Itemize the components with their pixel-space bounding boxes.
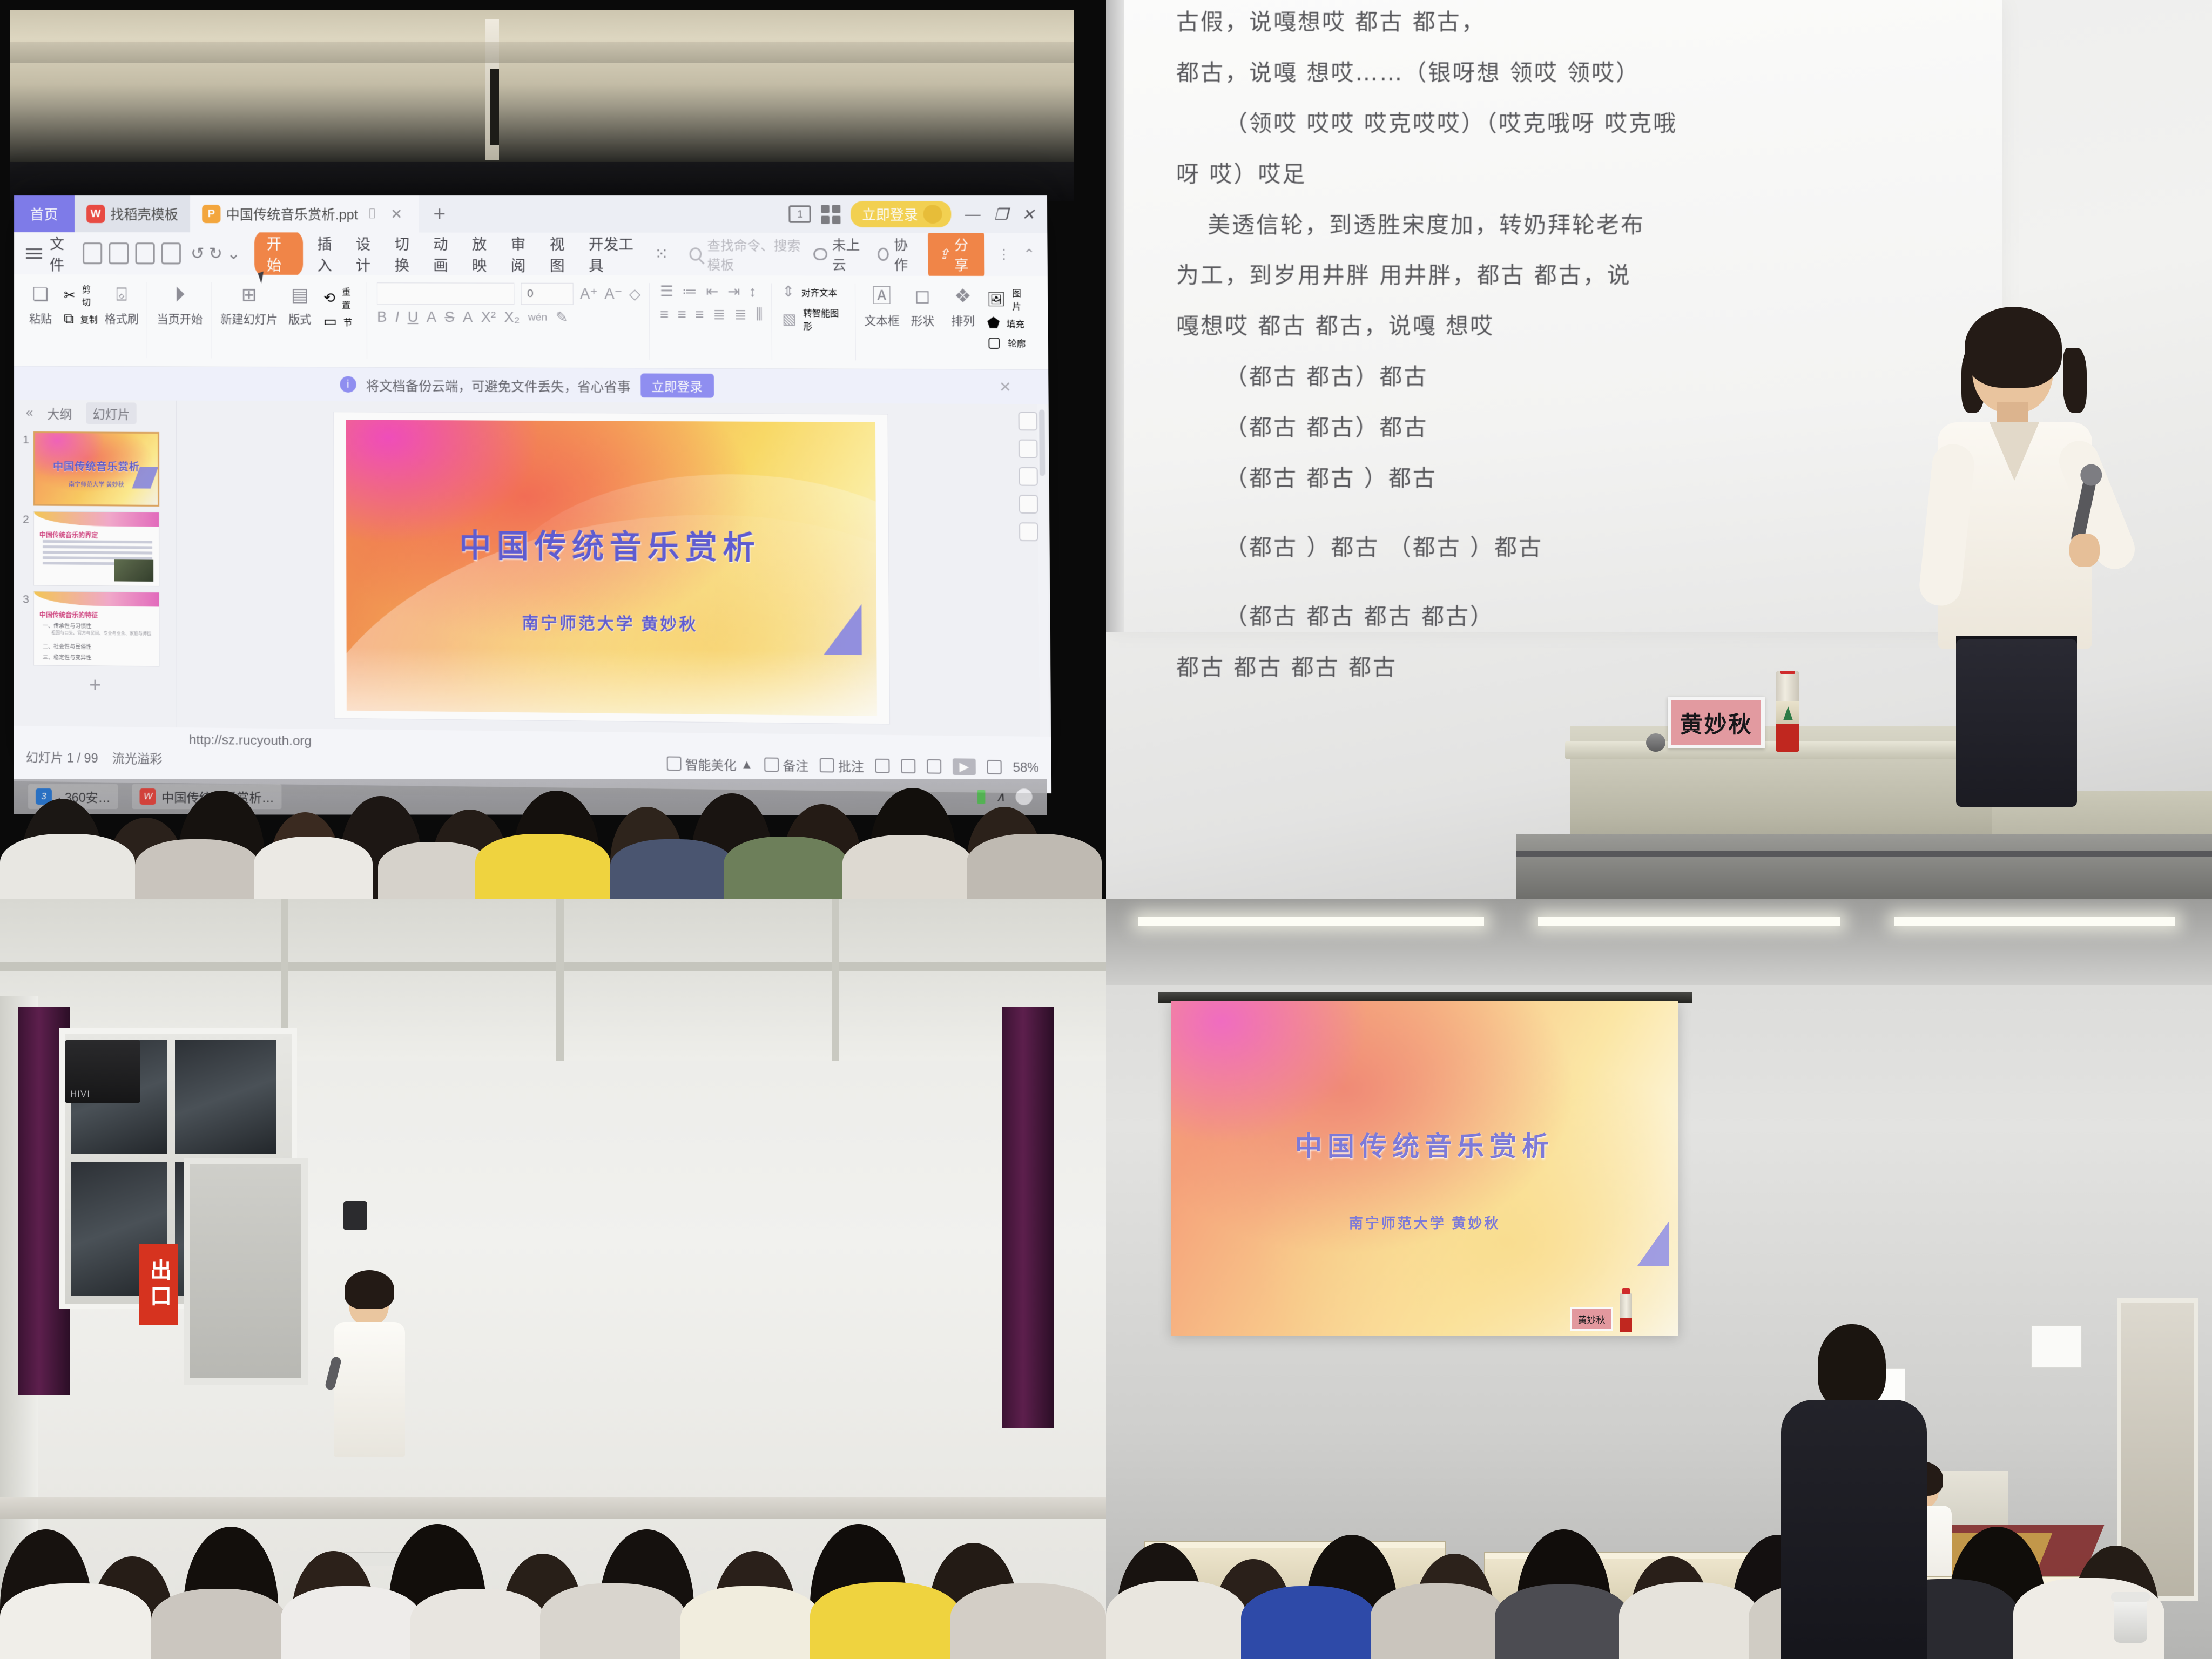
- projector-mount: [490, 69, 499, 145]
- picture-button[interactable]: 🖼 图片: [987, 286, 1028, 312]
- bold-button[interactable]: B: [377, 309, 387, 326]
- shapes-tool-icon[interactable]: [1019, 440, 1038, 458]
- tab-file-label: 中国传统音乐赏析.ppt: [226, 204, 358, 224]
- notice-login-button[interactable]: 立即登录: [640, 373, 714, 397]
- vertical-scrollbar[interactable]: [1037, 404, 1049, 737]
- tab-slideshow[interactable]: 放映: [472, 233, 497, 275]
- thumb1-title: 中国传统音乐赏析: [35, 458, 158, 474]
- select-tool-icon[interactable]: [1018, 412, 1037, 430]
- align-left-icon[interactable]: ≡: [660, 306, 669, 322]
- play-slideshow-button[interactable]: ▶: [953, 758, 976, 775]
- thumbnail-number: 3: [17, 591, 29, 606]
- add-person-icon: [878, 248, 889, 261]
- distribute-icon[interactable]: ≣: [734, 306, 747, 323]
- bottle-label-lower: [1776, 724, 1799, 752]
- notes-label: 备注: [783, 756, 808, 774]
- ceiling-light-1: [1138, 917, 1484, 926]
- beautify-label: 智能美化: [685, 754, 737, 774]
- login-button-titlebar[interactable]: 立即登录: [851, 201, 952, 227]
- reset-icon: ⟲: [323, 289, 335, 306]
- theme-name: 流光溢彩: [112, 748, 163, 767]
- share-button[interactable]: ⇪ 分享: [928, 231, 984, 278]
- thumbnail-image-3: 中国传统音乐的特征 一、传承性与习惯性 祖国与口头、官方与民间、专业与业余、家庭…: [33, 591, 159, 666]
- speaker-hand: [2069, 534, 2100, 567]
- section-label: 节: [343, 315, 352, 328]
- ribbon-tabs: 开始 插入 设计 切换 动画 放映 审阅 视图 开发工具 ⁙: [255, 230, 671, 278]
- cut-label: 剪切: [82, 282, 98, 308]
- tab-docer-template[interactable]: W 找稻壳模板: [75, 195, 190, 232]
- group-present: ⏵ 当页开始: [147, 282, 212, 359]
- speaker-person: [1926, 315, 2120, 801]
- slide-sorter-icon[interactable]: [901, 759, 915, 773]
- notes-button[interactable]: 备注: [764, 755, 808, 774]
- notice-close-icon[interactable]: ✕: [999, 378, 1011, 395]
- photo-collage: 首页 W 找稻壳模板 P 中国传统音乐赏析.ppt ⌷ ✕ + 1 立即登录: [0, 0, 2212, 1659]
- picture-label: 图片: [1012, 286, 1028, 312]
- ribbon-body: ❏ 粘贴 ✂ 剪切 ⧉ 复制 ⌺: [14, 274, 1048, 370]
- ribbon-options-icon[interactable]: ⋮: [997, 246, 1011, 263]
- shape-button[interactable]: ◻ 形状: [906, 284, 939, 329]
- thumb3-item-4: 三、稳定性与变异性: [43, 652, 91, 661]
- projected-water-bottle: [1620, 1293, 1632, 1332]
- tab-review[interactable]: 审阅: [511, 233, 536, 275]
- thumbnail-item-2[interactable]: 2 中国传统音乐的界定: [17, 511, 173, 586]
- to-smartart-label: 转智能图形: [803, 306, 846, 332]
- taskbar-item-wps[interactable]: W 中国传统音乐赏析…: [132, 784, 282, 809]
- grow-font-icon[interactable]: A⁺: [580, 285, 598, 302]
- undo-icon[interactable]: ↺: [188, 244, 206, 263]
- numbering-icon[interactable]: ≔: [682, 283, 697, 300]
- lyric-line-3: （领哎 哎哎 哎克哎哎）（哎克哦呀 哎克哦: [1176, 102, 2163, 146]
- lyric-line-2: 都古，说嘎 想哎……（银呀想 领哎 领哎）: [1176, 51, 2163, 95]
- search-placeholder: 查找命令、搜索模板: [707, 235, 813, 273]
- tab-docer-label: 找稻壳模板: [110, 204, 178, 224]
- layout-icon: ▤: [291, 282, 309, 307]
- copy-icon: ⧉: [64, 310, 74, 327]
- align-right-icon[interactable]: ≡: [695, 306, 704, 323]
- align-text-label: 对齐文本: [801, 285, 837, 299]
- fill-label: 填充: [1007, 316, 1024, 330]
- to-smartart-button[interactable]: ▧ 转智能图形: [782, 306, 846, 332]
- save-as-icon[interactable]: [109, 242, 129, 264]
- arrange-button[interactable]: ❖ 排列: [946, 284, 979, 329]
- share-icon: ⇪: [938, 246, 950, 263]
- wps-ppt-icon: P: [202, 205, 220, 223]
- thumbnail-number: 2: [17, 511, 29, 526]
- notes-icon: [764, 757, 779, 772]
- fill-icon: ⬟: [987, 314, 1000, 332]
- italic-button[interactable]: I: [395, 309, 400, 326]
- clear-format-icon[interactable]: ◇: [629, 286, 640, 302]
- bullets-icon[interactable]: ☰: [660, 283, 673, 300]
- wall-camera: [343, 1201, 367, 1230]
- subscript-button[interactable]: X₂: [504, 309, 520, 326]
- lyric-line-4: 呀 哎）哎足: [1176, 152, 2163, 197]
- taskbar-wps-label: 中国传统音乐赏析…: [161, 787, 274, 806]
- chevron-up-icon[interactable]: ∧: [996, 789, 1006, 805]
- current-slide[interactable]: 中国传统音乐赏析 南宁师范大学 黄妙秋: [334, 412, 889, 724]
- chart-tool-icon[interactable]: [1019, 522, 1038, 541]
- new-slide-icon: ⊞: [241, 282, 257, 307]
- normal-view-icon[interactable]: [875, 759, 889, 773]
- wps-docer-icon: W: [86, 205, 105, 223]
- notice-text: 将文档备份云端，可避免文件丢失，省心省事: [366, 375, 631, 395]
- collapse-ribbon-icon[interactable]: ⌃: [1023, 246, 1035, 263]
- 360-icon: 3: [36, 788, 52, 805]
- tab-insert[interactable]: 插入: [317, 232, 341, 275]
- strikethrough-button[interactable]: S: [444, 309, 454, 326]
- lyric-line-6: 为工，到岁用井胖 用井胖，都古 都古，说: [1176, 253, 2163, 298]
- play-from-current-label: 当页开始: [157, 311, 203, 327]
- ceiling: [10, 10, 1074, 172]
- magic-wand-icon: [667, 756, 682, 771]
- arrange-icon: ❖: [954, 284, 972, 309]
- char-border-button[interactable]: A: [463, 309, 473, 326]
- canvas-side-toolbar: [1018, 412, 1038, 541]
- bottle-cap: [1780, 671, 1795, 674]
- panel-speaker-podium: 古假，说嘎想哎 都古 都古， 都古，说嘎 想哎……（银呀想 领哎 领哎） （领哎…: [1106, 0, 2212, 899]
- slide-subtitle: 南宁师范大学 黄妙秋: [334, 608, 889, 636]
- tab-developer[interactable]: 开发工具: [589, 233, 638, 275]
- reset-label: 重置: [342, 285, 358, 311]
- projected-slide-title: 中国传统音乐赏析: [1171, 1125, 1678, 1164]
- format-painter-label: 格式刷: [104, 311, 138, 327]
- copy-label: 复制: [80, 312, 98, 325]
- student-desk-row-1: [1144, 1541, 1446, 1622]
- editor-body: « 大纲 幻灯片 1 中国传统音乐赏析 南宁师范大学 黄妙秋 2: [14, 400, 1051, 737]
- decrease-indent-icon[interactable]: ⇤: [706, 283, 718, 300]
- zoom-level[interactable]: 58%: [1013, 760, 1038, 775]
- file-menu-button[interactable]: 文件: [26, 232, 73, 274]
- curtain-right: [1002, 1007, 1054, 1428]
- new-tab-button[interactable]: +: [419, 195, 460, 233]
- play-from-current-button[interactable]: ⏵ 当页开始: [157, 282, 203, 327]
- network-icon[interactable]: [1016, 788, 1033, 805]
- beautify-button[interactable]: 智能美化▲: [667, 754, 753, 774]
- ribbon-tabbar: 文件 ↺ ↻ ⌄ 开始 插入 设计 切换 动画 放映 审阅 视图: [14, 232, 1048, 276]
- projection-screen: 中国传统音乐赏析 南宁师范大学 黄妙秋 黄妙秋: [1171, 1001, 1678, 1336]
- window-titlebar: 首页 W 找稻壳模板 P 中国传统音乐赏析.ppt ⌷ ✕ + 1 立即登录: [14, 195, 1047, 233]
- thumbnail-number: 1: [17, 431, 29, 447]
- wps-presentation-window: 首页 W 找稻壳模板 P 中国传统音乐赏析.ppt ⌷ ✕ + 1 立即登录: [14, 195, 1051, 793]
- print-preview-icon[interactable]: [161, 242, 181, 264]
- info-icon: i: [340, 376, 356, 393]
- chevron-up-icon: ▲: [740, 757, 753, 772]
- phonetic-guide-button[interactable]: wén: [528, 312, 548, 323]
- panel-projector-wps: 首页 W 找稻壳模板 P 中国传统音乐赏析.ppt ⌷ ✕ + 1 立即登录: [0, 0, 1106, 899]
- columns-icon[interactable]: ⫼: [756, 306, 763, 323]
- section-button[interactable]: ▭ 节: [323, 313, 358, 330]
- align-text-icon: ⇕: [782, 284, 795, 301]
- redo-icon[interactable]: ↻: [207, 244, 225, 263]
- font-size-input[interactable]: 0: [521, 283, 574, 305]
- group-clipboard: ❏ 粘贴 ✂ 剪切 ⧉ 复制 ⌺: [25, 282, 147, 358]
- textbox-button[interactable]: 🄰 文本框: [865, 284, 899, 329]
- format-painter-icon: ⌺: [116, 282, 127, 307]
- format-painter-button[interactable]: ⌺ 格式刷: [105, 282, 138, 326]
- close-icon[interactable]: ✕: [1022, 205, 1035, 224]
- copy-button[interactable]: ⧉ 复制: [64, 310, 98, 327]
- lyric-line-5: 美透信轮，到透胜宋度加，转奶拜轮老布: [1176, 203, 2163, 247]
- search-box[interactable]: 查找命令、搜索模板: [690, 235, 813, 273]
- new-slide-button[interactable]: ⊞ 新建幻灯片: [221, 282, 276, 327]
- stage-front-edge: [1516, 834, 2212, 899]
- customize-toolbar-icon[interactable]: ⌄: [225, 244, 242, 263]
- hall-door: [2117, 1298, 2198, 1601]
- ceiling-beam-vertical-2: [556, 899, 564, 1061]
- pin-tab-icon[interactable]: ⌷: [363, 205, 381, 222]
- image-tool-icon[interactable]: [1019, 495, 1038, 514]
- login-label: 立即登录: [862, 204, 918, 224]
- taskbar-360-label: · 360安…: [57, 787, 111, 806]
- group-font: 0 A⁺ A⁻ ◇ B I U A S A X²: [367, 282, 650, 360]
- drink-cup: [2114, 1597, 2147, 1643]
- group-slides: ⊞ 新建幻灯片 ▤ 版式 ⟲ 重置 ▭ 节: [212, 282, 367, 359]
- more-tabs-icon[interactable]: ⁙: [652, 245, 671, 264]
- hall-ceiling: [1106, 899, 2212, 985]
- outline-label: 轮廓: [1008, 336, 1026, 349]
- paste-icon: ❏: [32, 282, 49, 307]
- arrange-label: 排列: [951, 312, 975, 329]
- ceiling-light-2: [1538, 917, 1840, 926]
- projection-left-edge: [1106, 0, 1124, 632]
- thumb1-subtitle: 南宁师范大学 黄妙秋: [35, 480, 158, 489]
- section-icon: ▭: [323, 313, 337, 330]
- lyric-line-1: 古假，说嘎想哎 都古 都古，: [1176, 0, 2163, 44]
- share-label: 分享: [954, 234, 975, 274]
- wall-sign-green: [2031, 1325, 2082, 1368]
- textbox-label: 文本框: [864, 312, 899, 329]
- tab-presentation-file[interactable]: P 中国传统音乐赏析.ppt ⌷ ✕: [190, 195, 419, 233]
- superscript-button[interactable]: X²: [481, 309, 496, 326]
- shape-label: 形状: [911, 312, 934, 329]
- increase-indent-icon[interactable]: ⇥: [727, 283, 740, 300]
- layout-button[interactable]: ▤ 版式: [284, 282, 316, 327]
- collaborate-label: 协作: [894, 234, 916, 274]
- print-icon[interactable]: [135, 242, 154, 264]
- slide-counter: 幻灯片 1 / 99: [26, 747, 98, 766]
- speaker-trousers: [1956, 639, 2077, 807]
- projected-slide-subtitle: 南宁师范大学 黄妙秋: [1171, 1212, 1678, 1232]
- cut-icon: ✂: [64, 287, 76, 304]
- file-menu-label: 文件: [50, 232, 73, 274]
- layout-label: 版式: [288, 311, 312, 327]
- comment-icon: [820, 758, 834, 773]
- tab-home[interactable]: 首页: [14, 195, 75, 232]
- outline-button[interactable]: ▢ 轮廓: [987, 334, 1028, 351]
- thumb3-item-3: 二、社会性与民俗性: [43, 642, 91, 650]
- text-shadow-button[interactable]: A: [427, 309, 436, 326]
- paste-label: 粘贴: [29, 310, 52, 326]
- collaborate-button[interactable]: 协作: [878, 234, 916, 274]
- ceiling-beam-horizontal: [0, 962, 1106, 971]
- ceiling-beam-vertical-3: [832, 899, 839, 1061]
- stage-edge-line: [1516, 851, 2212, 857]
- panel-hall-from-back: 中国传统音乐赏析 南宁师范大学 黄妙秋 黄妙秋: [1106, 899, 2212, 1659]
- water-bottle: [1776, 671, 1799, 752]
- standing-student-back: [1770, 1324, 1932, 1659]
- thumbnail-item-3[interactable]: 3 中国传统音乐的特征 一、传承性与习惯性 祖国与口头、官方与民间、专业与业余、…: [17, 591, 173, 667]
- restore-icon[interactable]: ❐: [994, 205, 1008, 224]
- shape-icon: ◻: [914, 284, 930, 309]
- reading-view-icon[interactable]: [927, 759, 941, 774]
- comments-button[interactable]: 批注: [820, 756, 864, 775]
- cut-button[interactable]: ✂ 剪切: [64, 282, 98, 308]
- tab-animation[interactable]: 动画: [433, 233, 458, 275]
- cloud-status-label: 未上云: [832, 234, 866, 274]
- comments-label: 批注: [838, 756, 864, 775]
- cloud-icon: [813, 248, 827, 260]
- os-taskbar: 3 · 360安… W 中国传统音乐赏析… ∧: [14, 779, 1047, 815]
- cloud-backup-notice: i 将文档备份云端，可避免文件丢失，省心省事 立即登录 ✕: [14, 366, 1049, 404]
- wall-speaker: [65, 1040, 140, 1103]
- tab-start[interactable]: 开始: [255, 230, 304, 278]
- align-text-button[interactable]: ⇕ 对齐文本: [782, 284, 846, 301]
- textbox-icon: 🄰: [872, 284, 891, 309]
- tab-view[interactable]: 视图: [550, 233, 575, 275]
- thumb3-item-1: 一、传承性与习惯性: [43, 621, 91, 630]
- group-insert: 🄰 文本框 ◻ 形状 ❖ 排列 🖼 图片: [855, 284, 1037, 361]
- underline-button[interactable]: U: [408, 309, 419, 326]
- microphone-base: [1646, 733, 1665, 752]
- thumb3-item-2: 祖国与口头、官方与民间、专业与业余、家庭与师徒: [43, 630, 151, 637]
- tab-transition[interactable]: 切换: [394, 233, 419, 275]
- projected-name-placard: 黄妙秋: [1570, 1307, 1613, 1331]
- collapse-panel-icon[interactable]: «: [26, 406, 33, 421]
- hamburger-icon: [26, 248, 42, 259]
- thumbnail-item-1[interactable]: 1 中国传统音乐赏析 南宁师范大学 黄妙秋: [17, 431, 173, 507]
- justify-icon[interactable]: ≣: [713, 306, 725, 323]
- lecturer-standing: [324, 1276, 416, 1454]
- line-spacing-icon[interactable]: ↕: [749, 283, 757, 300]
- student-desk-row-2: [1484, 1552, 1765, 1633]
- smartart-icon: ▧: [782, 311, 796, 328]
- fill-button[interactable]: ⬟ 填充: [987, 314, 1028, 332]
- door-frame: [184, 1158, 308, 1385]
- outline-icon: ▢: [987, 334, 1001, 351]
- name-placard: 黄妙秋: [1668, 697, 1765, 748]
- highlighter-icon[interactable]: ✎: [556, 309, 568, 326]
- thumbnail-image-1: 中国传统音乐赏析 南宁师范大学 黄妙秋: [33, 431, 159, 507]
- save-icon[interactable]: [83, 242, 102, 264]
- font-name-input[interactable]: [377, 282, 515, 305]
- slide-thumbnail-panel: « 大纲 幻灯片 1 中国传统音乐赏析 南宁师范大学 黄妙秋 2: [14, 400, 177, 727]
- new-slide-label: 新建幻灯片: [220, 311, 278, 327]
- picture-icon: 🖼: [987, 291, 1006, 308]
- cloud-status-button[interactable]: 未上云: [813, 234, 865, 274]
- paste-button[interactable]: ❏ 粘贴: [25, 282, 56, 326]
- avatar-icon: [923, 205, 942, 224]
- search-icon: [690, 247, 702, 260]
- classroom-floor-edge: [0, 1497, 1106, 1519]
- single-page-view-icon[interactable]: 1: [789, 205, 811, 223]
- shrink-font-icon[interactable]: A⁻: [604, 286, 622, 302]
- panel-classroom-wide: 出口 社会主义核心价值观 富强 民主 文明 和谐 自由 平等 公正 法治 爱国 …: [0, 899, 1106, 1659]
- tab-slides[interactable]: 幻灯片: [86, 402, 137, 424]
- speaker-hair: [1965, 307, 2062, 388]
- multi-page-view-icon[interactable]: [821, 205, 841, 224]
- text-tool-icon[interactable]: [1019, 467, 1038, 486]
- align-center-icon[interactable]: ≡: [678, 306, 686, 323]
- ceiling-light-3: [1894, 917, 2175, 926]
- slide-title: 中国传统音乐赏析: [334, 519, 888, 569]
- wps-icon: W: [140, 788, 156, 805]
- taskbar-item-360[interactable]: 3 · 360安…: [28, 784, 118, 809]
- thumb2-title: 中国传统音乐的界定: [39, 530, 98, 540]
- reset-button[interactable]: ⟲ 重置: [323, 285, 358, 311]
- add-slide-button[interactable]: +: [17, 665, 173, 698]
- slide-canvas[interactable]: 中国传统音乐赏析 南宁师范大学 黄妙秋: [177, 401, 1051, 737]
- wall-notice-small: [332, 1552, 402, 1566]
- close-tab-icon[interactable]: ✕: [386, 206, 407, 222]
- thumb3-title: 中国传统音乐的特征: [39, 610, 98, 620]
- exit-sign: 出口: [139, 1244, 178, 1325]
- nongfu-logo-icon: [1783, 706, 1793, 720]
- tab-outline[interactable]: 大纲: [47, 404, 72, 422]
- tab-design[interactable]: 设计: [356, 232, 380, 275]
- fit-to-window-icon[interactable]: [987, 760, 1001, 774]
- battery-icon[interactable]: [977, 790, 986, 804]
- group-paragraph: ☰ ≔ ⇤ ⇥ ↕ ≡ ≡ ≡ ≣ ≣ ⫼: [650, 283, 772, 360]
- play-from-current-icon: ⏵: [174, 282, 185, 307]
- thumbnail-image-2: 中国传统音乐的界定: [33, 511, 159, 587]
- minimize-icon[interactable]: —: [965, 205, 981, 224]
- group-text-tools: ⇕ 对齐文本 ▧ 转智能图形: [772, 284, 856, 361]
